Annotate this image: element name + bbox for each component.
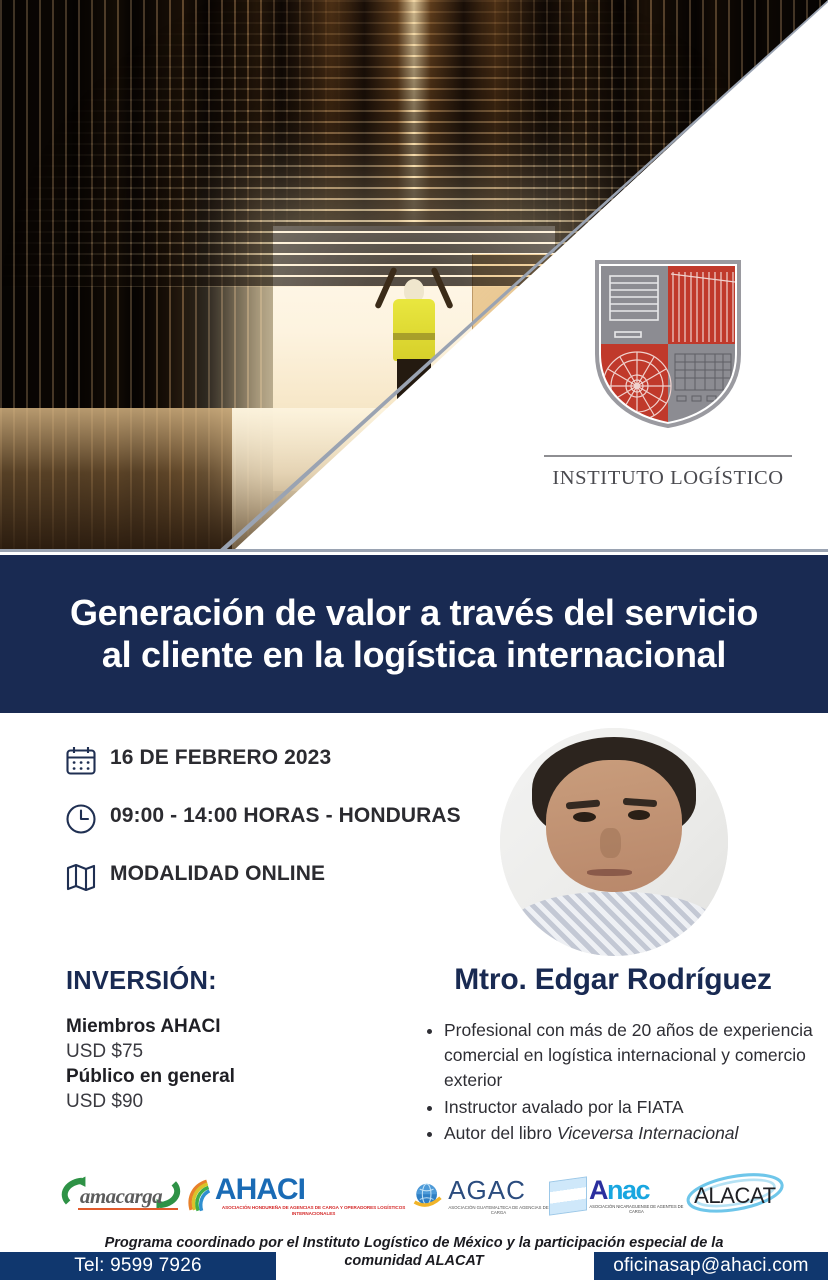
tier-price-members: USD $75 <box>66 1039 396 1064</box>
logo-anac-subtitle: ASOCIACIÓN NICARAGUENSE DE AGENTES DE CA… <box>589 1204 684 1214</box>
instituto-logistico-logo: INSTITUTO LOGÍSTICO <box>544 258 792 490</box>
event-poster: INSTITUTO LOGÍSTICO Generación de valor … <box>0 0 828 1280</box>
avatar-nose <box>600 828 621 858</box>
email-text[interactable]: oficinasap@ahaci.com <box>613 1255 808 1277</box>
logo-agac-text: AGAC <box>448 1177 549 1203</box>
bio-item: Profesional con más de 20 años de experi… <box>444 1018 814 1093</box>
logo-agac: AGAC ASOCIACIÓN GUATEMALTECA DE AGENCIAS… <box>412 1170 549 1222</box>
logo-anac-text: Anac <box>589 1178 684 1202</box>
detail-row-time: 09:00 - 14:00 HORAS - HONDURAS <box>64 800 484 836</box>
detail-text-time: 09:00 - 14:00 HORAS - HONDURAS <box>110 800 461 829</box>
bio-text: Instructor avalado por la FIATA <box>444 1097 684 1117</box>
bio-item: Instructor avalado por la FIATA <box>444 1095 814 1120</box>
globe-icon <box>412 1178 443 1214</box>
event-details: 16 DE FEBRERO 2023 09:00 - 14:00 HORAS -… <box>64 742 484 916</box>
tier-label-general: Público en general <box>66 1064 396 1089</box>
title-line-1: Generación de valor a través del servici… <box>70 592 758 634</box>
shield-icon <box>593 258 743 433</box>
detail-row-modality: MODALIDAD ONLINE <box>64 858 484 894</box>
logo-ahaci-subtitle: ASOCIACIÓN HONDUREÑA DE AGENCIAS DE CARG… <box>215 1205 412 1216</box>
bio-text: Profesional con más de 20 años de experi… <box>444 1020 813 1090</box>
email-bar[interactable]: oficinasap@ahaci.com <box>594 1252 828 1280</box>
tier-price-general: USD $90 <box>66 1089 396 1114</box>
speaker-bio: Profesional con más de 20 años de experi… <box>418 1018 814 1148</box>
institute-divider <box>544 455 792 457</box>
logo-amacarga-text: amacarga <box>80 1184 162 1209</box>
title-banner: Generación de valor a través del servici… <box>0 555 828 713</box>
bio-text: Autor del libro <box>444 1123 557 1143</box>
partner-logos: amacarga AHACI ASOCIACIÓN HONDUREÑA DE A… <box>56 1168 786 1224</box>
phone-bar: Tel: 9599 7926 <box>0 1252 276 1280</box>
logo-anac: Anac ASOCIACIÓN NICARAGUENSE DE AGENTES … <box>549 1170 684 1222</box>
logo-amacarga-underline <box>78 1208 178 1211</box>
bio-item: Autor del libro Viceversa Internacional <box>444 1121 814 1146</box>
avatar-mouth <box>587 869 633 876</box>
calendar-icon <box>64 742 110 778</box>
anac-flag-icon <box>549 1176 587 1215</box>
investment-block: INVERSIÓN: Miembros AHACI USD $75 Públic… <box>66 967 396 1114</box>
worker-safety-vest <box>393 299 435 361</box>
clock-icon <box>64 800 110 836</box>
logo-alacat-text: ALACAT <box>694 1183 776 1209</box>
title-line-2: al cliente en la logística internacional <box>102 634 726 676</box>
ahaci-swoosh-icon <box>186 1176 212 1216</box>
tier-label-members: Miembros AHACI <box>66 1014 396 1039</box>
bio-book-title: Viceversa Internacional <box>557 1123 739 1143</box>
logo-agac-subtitle: ASOCIACIÓN GUATEMALTECA DE AGENCIAS DE C… <box>448 1205 549 1215</box>
logo-ahaci: AHACI ASOCIACIÓN HONDUREÑA DE AGENCIAS D… <box>186 1170 412 1222</box>
hero-bottom-rule <box>0 549 828 552</box>
logo-ahaci-text: AHACI <box>215 1176 412 1203</box>
speaker-avatar <box>500 728 728 956</box>
detail-text-date: 16 DE FEBRERO 2023 <box>110 742 331 771</box>
institute-name: INSTITUTO LOGÍSTICO <box>544 467 792 490</box>
detail-text-modality: MODALIDAD ONLINE <box>110 858 325 887</box>
map-icon <box>64 858 110 894</box>
avatar-shirt <box>509 892 719 956</box>
logo-amacarga: amacarga <box>56 1173 186 1219</box>
investment-heading: INVERSIÓN: <box>66 967 396 996</box>
logo-alacat: ALACAT <box>684 1173 786 1219</box>
phone-text: Tel: 9599 7926 <box>74 1255 201 1277</box>
detail-row-date: 16 DE FEBRERO 2023 <box>64 742 484 778</box>
speaker-name: Mtro. Edgar Rodríguez <box>398 963 828 997</box>
